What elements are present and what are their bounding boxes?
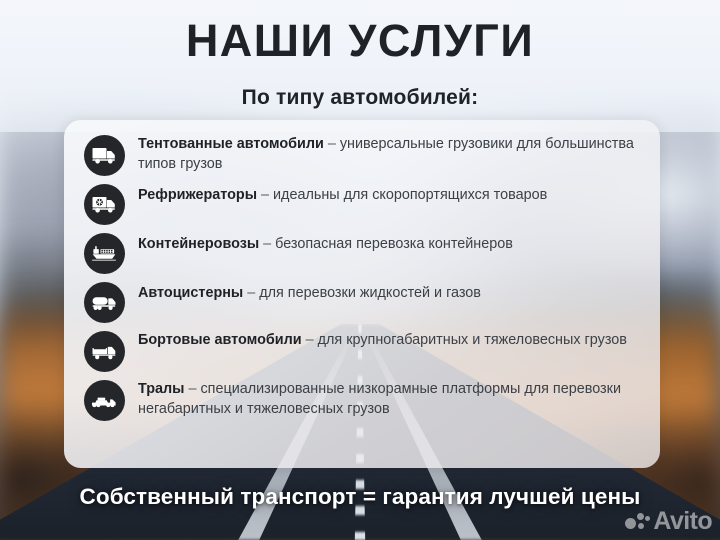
list-item-term: Тентованные автомобили bbox=[138, 136, 324, 152]
list-item-text: Автоцистерны – для перевозки жидкостей и… bbox=[138, 281, 481, 304]
list-item[interactable]: Тентованные автомобили – универсальные г… bbox=[84, 134, 640, 176]
list-item-dash: – bbox=[184, 381, 200, 397]
list-item-dash: – bbox=[257, 187, 273, 203]
services-card: Тентованные автомобили – универсальные г… bbox=[64, 120, 660, 468]
page-subtitle: По типу автомобилей: bbox=[0, 86, 720, 110]
list-item[interactable]: Бортовые автомобили – для крупногабаритн… bbox=[84, 330, 640, 372]
tanker-truck-icon bbox=[84, 282, 125, 323]
container-ship-icon bbox=[84, 233, 125, 274]
footer-slogan: Собственный транспорт = гарантия лучшей … bbox=[0, 484, 720, 510]
page-title: НАШИ УСЛУГИ bbox=[0, 18, 720, 64]
list-item[interactable]: Тралы – специализированные низкорамные п… bbox=[84, 379, 640, 421]
list-item-term: Автоцистерны bbox=[138, 285, 243, 301]
poster-canvas: НАШИ УСЛУГИ По типу автомобилей: Тентова… bbox=[0, 0, 720, 540]
list-item-text: Тралы – специализированные низкорамные п… bbox=[138, 379, 640, 419]
list-item-description: для перевозки жидкостей и газов bbox=[259, 285, 481, 301]
list-item-term: Рефрижераторы bbox=[138, 187, 257, 203]
list-item-term: Контейнеровозы bbox=[138, 236, 259, 252]
list-item-description: для крупногабаритных и тяжеловесных груз… bbox=[318, 332, 627, 348]
avito-watermark: Avito bbox=[625, 509, 712, 534]
list-item-text: Контейнеровозы – безопасная перевозка ко… bbox=[138, 232, 513, 255]
list-item[interactable]: Контейнеровозы – безопасная перевозка ко… bbox=[84, 232, 640, 274]
flatbed-truck-icon bbox=[84, 331, 125, 372]
list-item-description: идеальны для скоропортящихся товаров bbox=[273, 187, 547, 203]
list-item-text: Бортовые автомобили – для крупногабаритн… bbox=[138, 330, 627, 351]
list-item-description: безопасная перевозка контейнеров bbox=[275, 236, 513, 252]
refrigerator-truck-icon bbox=[84, 184, 125, 225]
avito-wordmark: Avito bbox=[653, 509, 712, 534]
box-truck-icon bbox=[84, 135, 125, 176]
list-item-dash: – bbox=[302, 332, 318, 348]
list-item[interactable]: Автоцистерны – для перевозки жидкостей и… bbox=[84, 281, 640, 323]
list-item-dash: – bbox=[324, 136, 340, 152]
list-item-term: Тралы bbox=[138, 381, 184, 397]
list-item-dash: – bbox=[259, 236, 275, 252]
list-item-text: Рефрижераторы – идеальны для скоропортящ… bbox=[138, 183, 547, 206]
avito-dots-logo bbox=[625, 513, 651, 530]
list-item-term: Бортовые автомобили bbox=[138, 332, 302, 348]
list-item[interactable]: Рефрижераторы – идеальны для скоропортящ… bbox=[84, 183, 640, 225]
lowboy-trailer-icon bbox=[84, 380, 125, 421]
list-item-dash: – bbox=[243, 285, 259, 301]
list-item-text: Тентованные автомобили – универсальные г… bbox=[138, 134, 640, 174]
list-item-description: специализированные низкорамные платформы… bbox=[138, 381, 621, 417]
